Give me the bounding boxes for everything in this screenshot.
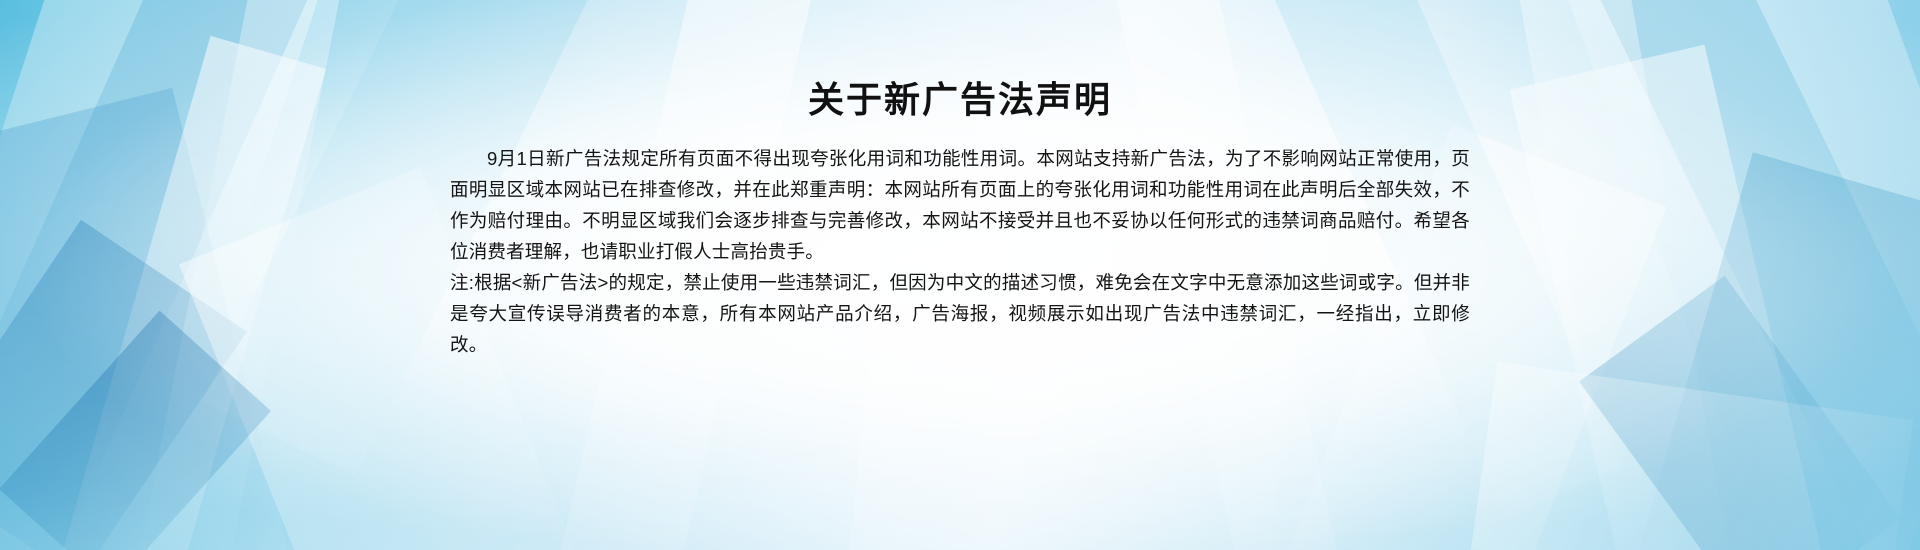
statement-paragraph-main: 9月1日新广告法规定所有页面不得出现夸张化用词和功能性用词。本网站支持新广告法，… <box>450 143 1470 267</box>
advertising-law-statement-banner: 关于新广告法声明 9月1日新广告法规定所有页面不得出现夸张化用词和功能性用词。本… <box>0 0 1920 550</box>
page-title: 关于新广告法声明 <box>450 78 1470 121</box>
statement-paragraph-note: 注:根据<新广告法>的规定，禁止使用一些违禁词汇，但因为中文的描述习惯，难免会在… <box>450 267 1470 360</box>
statement-content: 关于新广告法声明 9月1日新广告法规定所有页面不得出现夸张化用词和功能性用词。本… <box>450 78 1470 360</box>
